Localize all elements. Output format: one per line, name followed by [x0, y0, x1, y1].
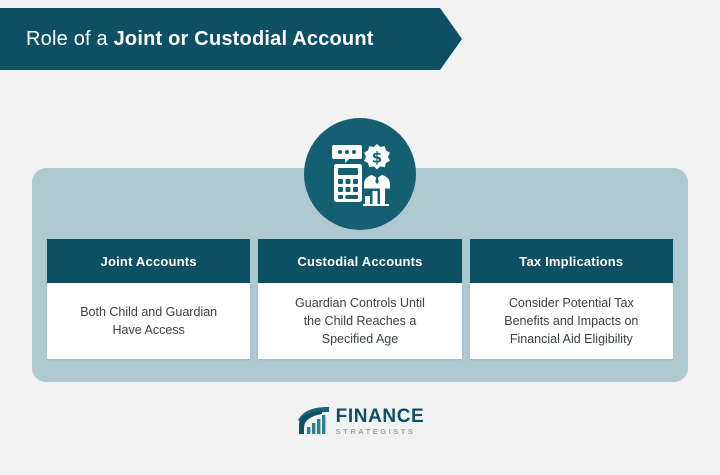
logo-wordmark: FINANCE STRATEGISTS	[336, 407, 425, 435]
logo-name: FINANCE	[336, 407, 425, 426]
page-title-strong: Joint or Custodial Account	[114, 28, 374, 50]
logo-subtitle: STRATEGISTS	[336, 428, 425, 435]
cards-row: Joint Accounts Both Child and Guardian H…	[47, 239, 673, 359]
card-body: Guardian Controls Until the Child Reache…	[258, 283, 461, 359]
svg-text:$: $	[372, 149, 382, 167]
finance-accounting-icon: $	[304, 118, 416, 230]
brand-logo: FINANCE STRATEGISTS	[0, 402, 720, 440]
card-body: Consider Potential Tax Benefits and Impa…	[470, 283, 673, 359]
card-tax-implications: Tax Implications Consider Potential Tax …	[470, 239, 673, 359]
card-custodial-accounts: Custodial Accounts Guardian Controls Unt…	[258, 239, 461, 359]
card-body: Both Child and Guardian Have Access	[47, 283, 250, 359]
card-joint-accounts: Joint Accounts Both Child and Guardian H…	[47, 239, 250, 359]
page-title: Role of a Joint or Custodial Account	[0, 28, 374, 51]
header-banner: Role of a Joint or Custodial Account	[0, 8, 462, 70]
card-header: Joint Accounts	[47, 239, 250, 283]
finance-strategists-logo-icon	[296, 407, 330, 435]
card-header: Tax Implications	[470, 239, 673, 283]
page-title-prefix: Role of a	[26, 28, 114, 50]
card-header: Custodial Accounts	[258, 239, 461, 283]
